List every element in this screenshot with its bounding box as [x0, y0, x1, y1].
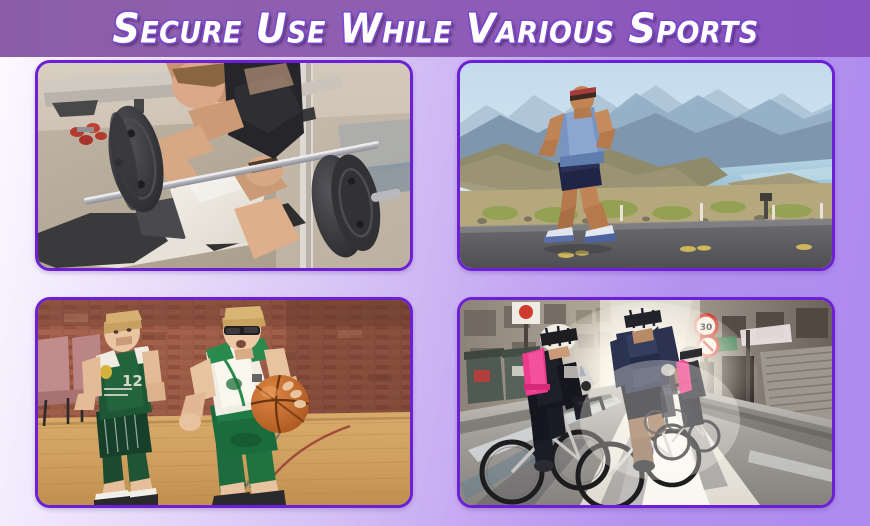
photo-card-basketball[interactable]: 12	[35, 297, 413, 508]
photo-card-cycling[interactable]: 30	[457, 297, 835, 508]
page-header-bar: Secure Use While Various Sports	[0, 0, 870, 57]
svg-text:12: 12	[122, 372, 143, 390]
poster-page: Secure Use While Various Sports	[0, 0, 870, 526]
photo-card-running[interactable]	[457, 60, 835, 271]
city-street-cyclists-photo: 30	[460, 300, 832, 505]
photo-card-weightlifting[interactable]	[35, 60, 413, 271]
page-title-text: Secure Use While Various Sports	[112, 8, 758, 49]
indoor-basketball-photo: 12	[38, 300, 410, 505]
page-title: Secure Use While Various Sports	[0, 8, 870, 49]
sports-photo-grid: 12	[35, 60, 835, 508]
bench-press-gym-photo	[38, 63, 410, 268]
desert-road-runner-photo	[460, 63, 832, 268]
